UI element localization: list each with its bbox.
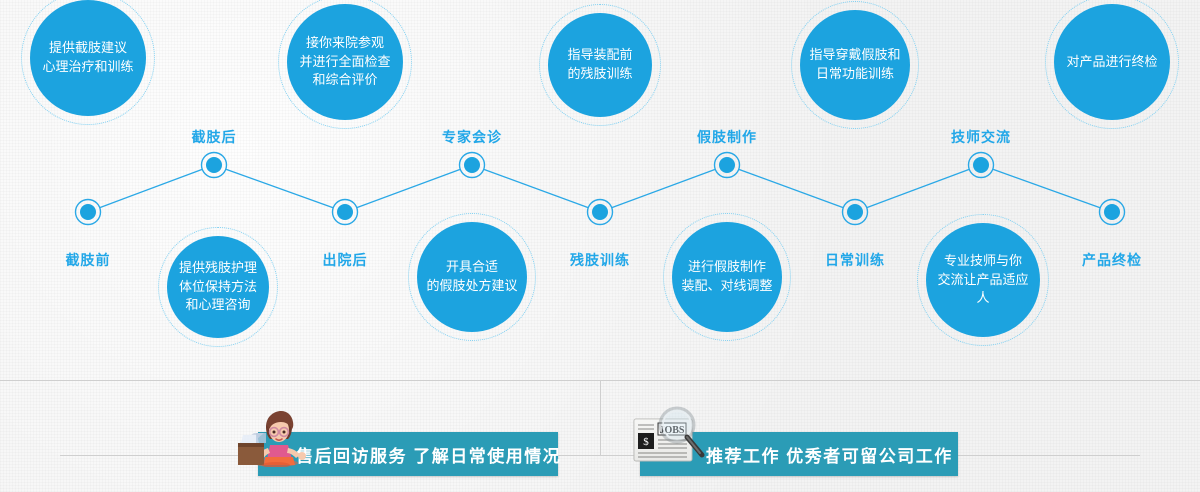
flow-node-n2[interactable] <box>202 153 227 178</box>
flow-lines <box>100 169 1100 207</box>
flow-node-dot <box>337 204 353 220</box>
flow-node-dot <box>464 157 480 173</box>
flow-connector-line <box>100 170 202 208</box>
info-bubble-b9[interactable]: 专业技师与你交流让产品适应人 <box>926 223 1040 337</box>
info-bubble-text: 指导穿戴假肢和日常功能训练 <box>801 46 908 84</box>
info-bubble-b6[interactable]: 提供残肢护理体位保持方法和心理咨询 <box>167 236 269 338</box>
banner-jobs[interactable]: 推荐工作 优秀者可留公司工作 $ JOBS <box>610 406 964 478</box>
info-bubble-b2[interactable]: 接你来院参观并进行全面检查和综合评价 <box>287 4 403 120</box>
info-bubble-b4[interactable]: 指导穿戴假肢和日常功能训练 <box>800 10 910 120</box>
info-bubble-b3[interactable]: 指导装配前的残肢训练 <box>548 13 652 117</box>
info-bubble-text: 开具合适的假肢处方建议 <box>418 258 525 296</box>
banner-aftersales[interactable]: 售后回访服务 了解日常使用情况 <box>228 406 564 478</box>
info-bubble-b5[interactable]: 对产品进行终检 <box>1054 4 1170 120</box>
info-bubble-b7[interactable]: 开具合适的假肢处方建议 <box>417 222 527 332</box>
banner-jobs-label: 推荐工作 优秀者可留公司工作 <box>706 442 953 467</box>
node-label-n5: 残肢训练 <box>570 250 630 270</box>
info-bubble-text: 进行假肢制作装配、对线调整 <box>673 258 780 296</box>
info-bubble-text: 专业技师与你交流让产品适应人 <box>926 252 1040 309</box>
flow-connector-line <box>484 169 588 207</box>
flow-connector-line <box>612 170 715 208</box>
node-label-n3: 出院后 <box>323 250 368 270</box>
flow-node-dot <box>206 157 222 173</box>
flow-node-dot <box>80 204 96 220</box>
info-bubble-b1[interactable]: 提供截肢建议心理治疗和训练 <box>30 0 146 116</box>
banner-aftersales-label: 售后回访服务 了解日常使用情况 <box>296 442 561 467</box>
flow-node-n5[interactable] <box>588 200 613 225</box>
flow-node-n8[interactable] <box>969 153 994 178</box>
flow-node-n1[interactable] <box>76 200 101 225</box>
section-divider-vertical <box>600 380 601 455</box>
info-bubble-text: 提供残肢护理体位保持方法和心理咨询 <box>171 259 265 316</box>
flow-node-n3[interactable] <box>333 200 358 225</box>
flow-node-n9[interactable] <box>1100 200 1125 225</box>
flow-node-dot <box>592 204 608 220</box>
woman-at-desk-illustration <box>236 403 310 472</box>
node-label-n4: 专家会诊 <box>442 127 502 147</box>
info-bubble-text: 接你来院参观并进行全面检查和综合评价 <box>291 34 398 91</box>
jobs-newspaper-magnifier-illustration: $ JOBS <box>630 403 708 472</box>
node-label-n6: 假肢制作 <box>697 127 757 147</box>
info-bubble-b8[interactable]: 进行假肢制作装配、对线调整 <box>672 222 782 332</box>
node-label-n1: 截肢前 <box>66 250 111 270</box>
flow-node-dot <box>973 157 989 173</box>
woman-at-desk-illustration <box>236 403 310 467</box>
node-label-n2: 截肢后 <box>192 127 237 147</box>
svg-text:$: $ <box>643 436 649 448</box>
flow-node-n7[interactable] <box>843 200 868 225</box>
flow-connector-line <box>739 169 843 207</box>
flow-nodes <box>76 153 1125 225</box>
info-bubble-text: 提供截肢建议心理治疗和训练 <box>34 39 141 77</box>
flow-connector-line <box>993 169 1100 207</box>
flow-node-dot <box>719 157 735 173</box>
flow-node-n4[interactable] <box>460 153 485 178</box>
jobs-newspaper-magnifier-illustration: $ JOBS <box>630 403 708 467</box>
node-label-n8: 技师交流 <box>951 127 1011 147</box>
flow-connector-line <box>867 170 969 208</box>
flow-node-n6[interactable] <box>715 153 740 178</box>
section-divider-middle <box>60 455 1140 456</box>
info-bubble-text: 对产品进行终检 <box>1058 53 1165 72</box>
info-bubble-text: 指导装配前的残肢训练 <box>559 46 640 84</box>
node-label-n9: 产品终检 <box>1082 250 1142 270</box>
flow-connector-line <box>357 170 460 208</box>
infographic-canvas: 提供截肢建议心理治疗和训练接你来院参观并进行全面检查和综合评价指导装配前的残肢训… <box>0 0 1200 492</box>
flow-node-dot <box>847 204 863 220</box>
flow-connector-line <box>226 169 333 207</box>
node-label-n7: 日常训练 <box>825 250 885 270</box>
flow-node-dot <box>1104 204 1120 220</box>
